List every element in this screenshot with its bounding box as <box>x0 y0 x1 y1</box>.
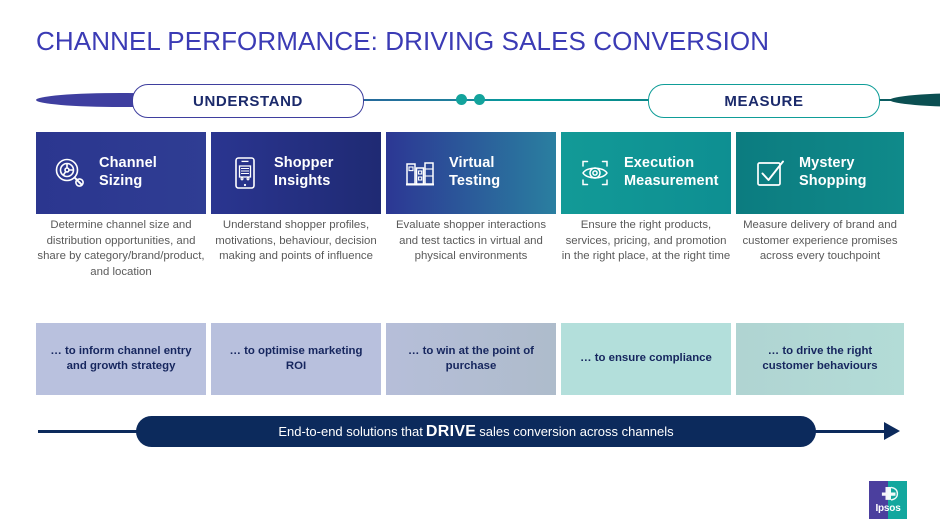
magnifier-piechart-icon <box>50 153 90 193</box>
phase-timeline: UNDERSTAND MEASURE <box>36 84 904 116</box>
description-shopper-insights: Understand shopper profiles, motivations… <box>211 218 381 265</box>
service-card-line2: Testing <box>449 173 500 189</box>
arrow-head-icon <box>884 422 900 440</box>
timeline-dot-mid-right <box>474 94 485 105</box>
logo-wordmark: Ipsos <box>869 503 907 514</box>
service-card-virtual-testing[interactable]: Virtual Testing <box>386 132 556 214</box>
outcome-box-virtual-testing: … to win at the point of purchase <box>386 323 556 395</box>
checkbox-tick-icon <box>750 153 790 193</box>
banner-suffix: sales conversion across channels <box>479 424 673 439</box>
outcome-box-channel-sizing: … to inform channel entry and growth str… <box>36 323 206 395</box>
description-row: Determine channel size and distribution … <box>36 218 904 298</box>
service-card-label: Shopper Insights <box>274 155 334 190</box>
service-card-line1: Mystery <box>799 155 855 171</box>
timeline-dot-end <box>890 93 940 107</box>
description-channel-sizing: Determine channel size and distribution … <box>36 218 206 281</box>
service-card-channel-sizing[interactable]: Channel Sizing <box>36 132 206 214</box>
service-card-line2: Sizing <box>99 173 142 189</box>
service-card-line1: Shopper <box>274 155 334 171</box>
banner-prefix: End-to-end solutions that <box>278 424 423 439</box>
slide-canvas: CHANNEL PERFORMANCE: DRIVING SALES CONVE… <box>0 0 940 529</box>
description-mystery-shopping: Measure delivery of brand and customer e… <box>736 218 904 265</box>
ipsos-logo: Ipsos <box>869 481 907 519</box>
page-title: CHANNEL PERFORMANCE: DRIVING SALES CONVE… <box>36 26 769 57</box>
service-card-row: Channel Sizing Shopper Insights <box>36 132 904 214</box>
service-card-mystery-shopping[interactable]: Mystery Shopping <box>736 132 904 214</box>
summary-banner: End-to-end solutions that DRIVE sales co… <box>136 416 816 447</box>
outcome-box-execution-measurement: … to ensure compliance <box>561 323 731 395</box>
banner-emphasis: DRIVE <box>423 423 479 441</box>
description-execution-measurement: Ensure the right products, services, pri… <box>561 218 731 265</box>
eye-scan-icon <box>575 153 615 193</box>
service-card-shopper-insights[interactable]: Shopper Insights <box>211 132 381 214</box>
service-card-line1: Virtual <box>449 155 495 171</box>
service-card-line1: Execution <box>624 155 694 171</box>
service-card-line1: Channel <box>99 155 157 171</box>
phase-pill-understand[interactable]: UNDERSTAND <box>132 84 364 118</box>
service-card-label: Channel Sizing <box>99 155 157 190</box>
outcome-box-mystery-shopping: … to drive the right customer behaviours <box>736 323 904 395</box>
retail-shelf-icon <box>400 153 440 193</box>
service-card-line2: Insights <box>274 173 330 189</box>
phase-pill-measure[interactable]: MEASURE <box>648 84 880 118</box>
service-card-line2: Shopping <box>799 173 867 189</box>
service-card-label: Execution Measurement <box>624 155 719 190</box>
timeline-dot-mid-left <box>456 94 467 105</box>
service-card-execution-measurement[interactable]: Execution Measurement <box>561 132 731 214</box>
mobile-cart-icon <box>225 153 265 193</box>
outcome-row: … to inform channel entry and growth str… <box>36 323 904 395</box>
description-virtual-testing: Evaluate shopper interactions and test t… <box>386 218 556 265</box>
service-card-line2: Measurement <box>624 173 719 189</box>
outcome-box-shopper-insights: … to optimise marketing ROI <box>211 323 381 395</box>
summary-arrow: End-to-end solutions that DRIVE sales co… <box>36 408 912 456</box>
service-card-label: Mystery Shopping <box>799 155 867 190</box>
service-card-label: Virtual Testing <box>449 155 500 190</box>
